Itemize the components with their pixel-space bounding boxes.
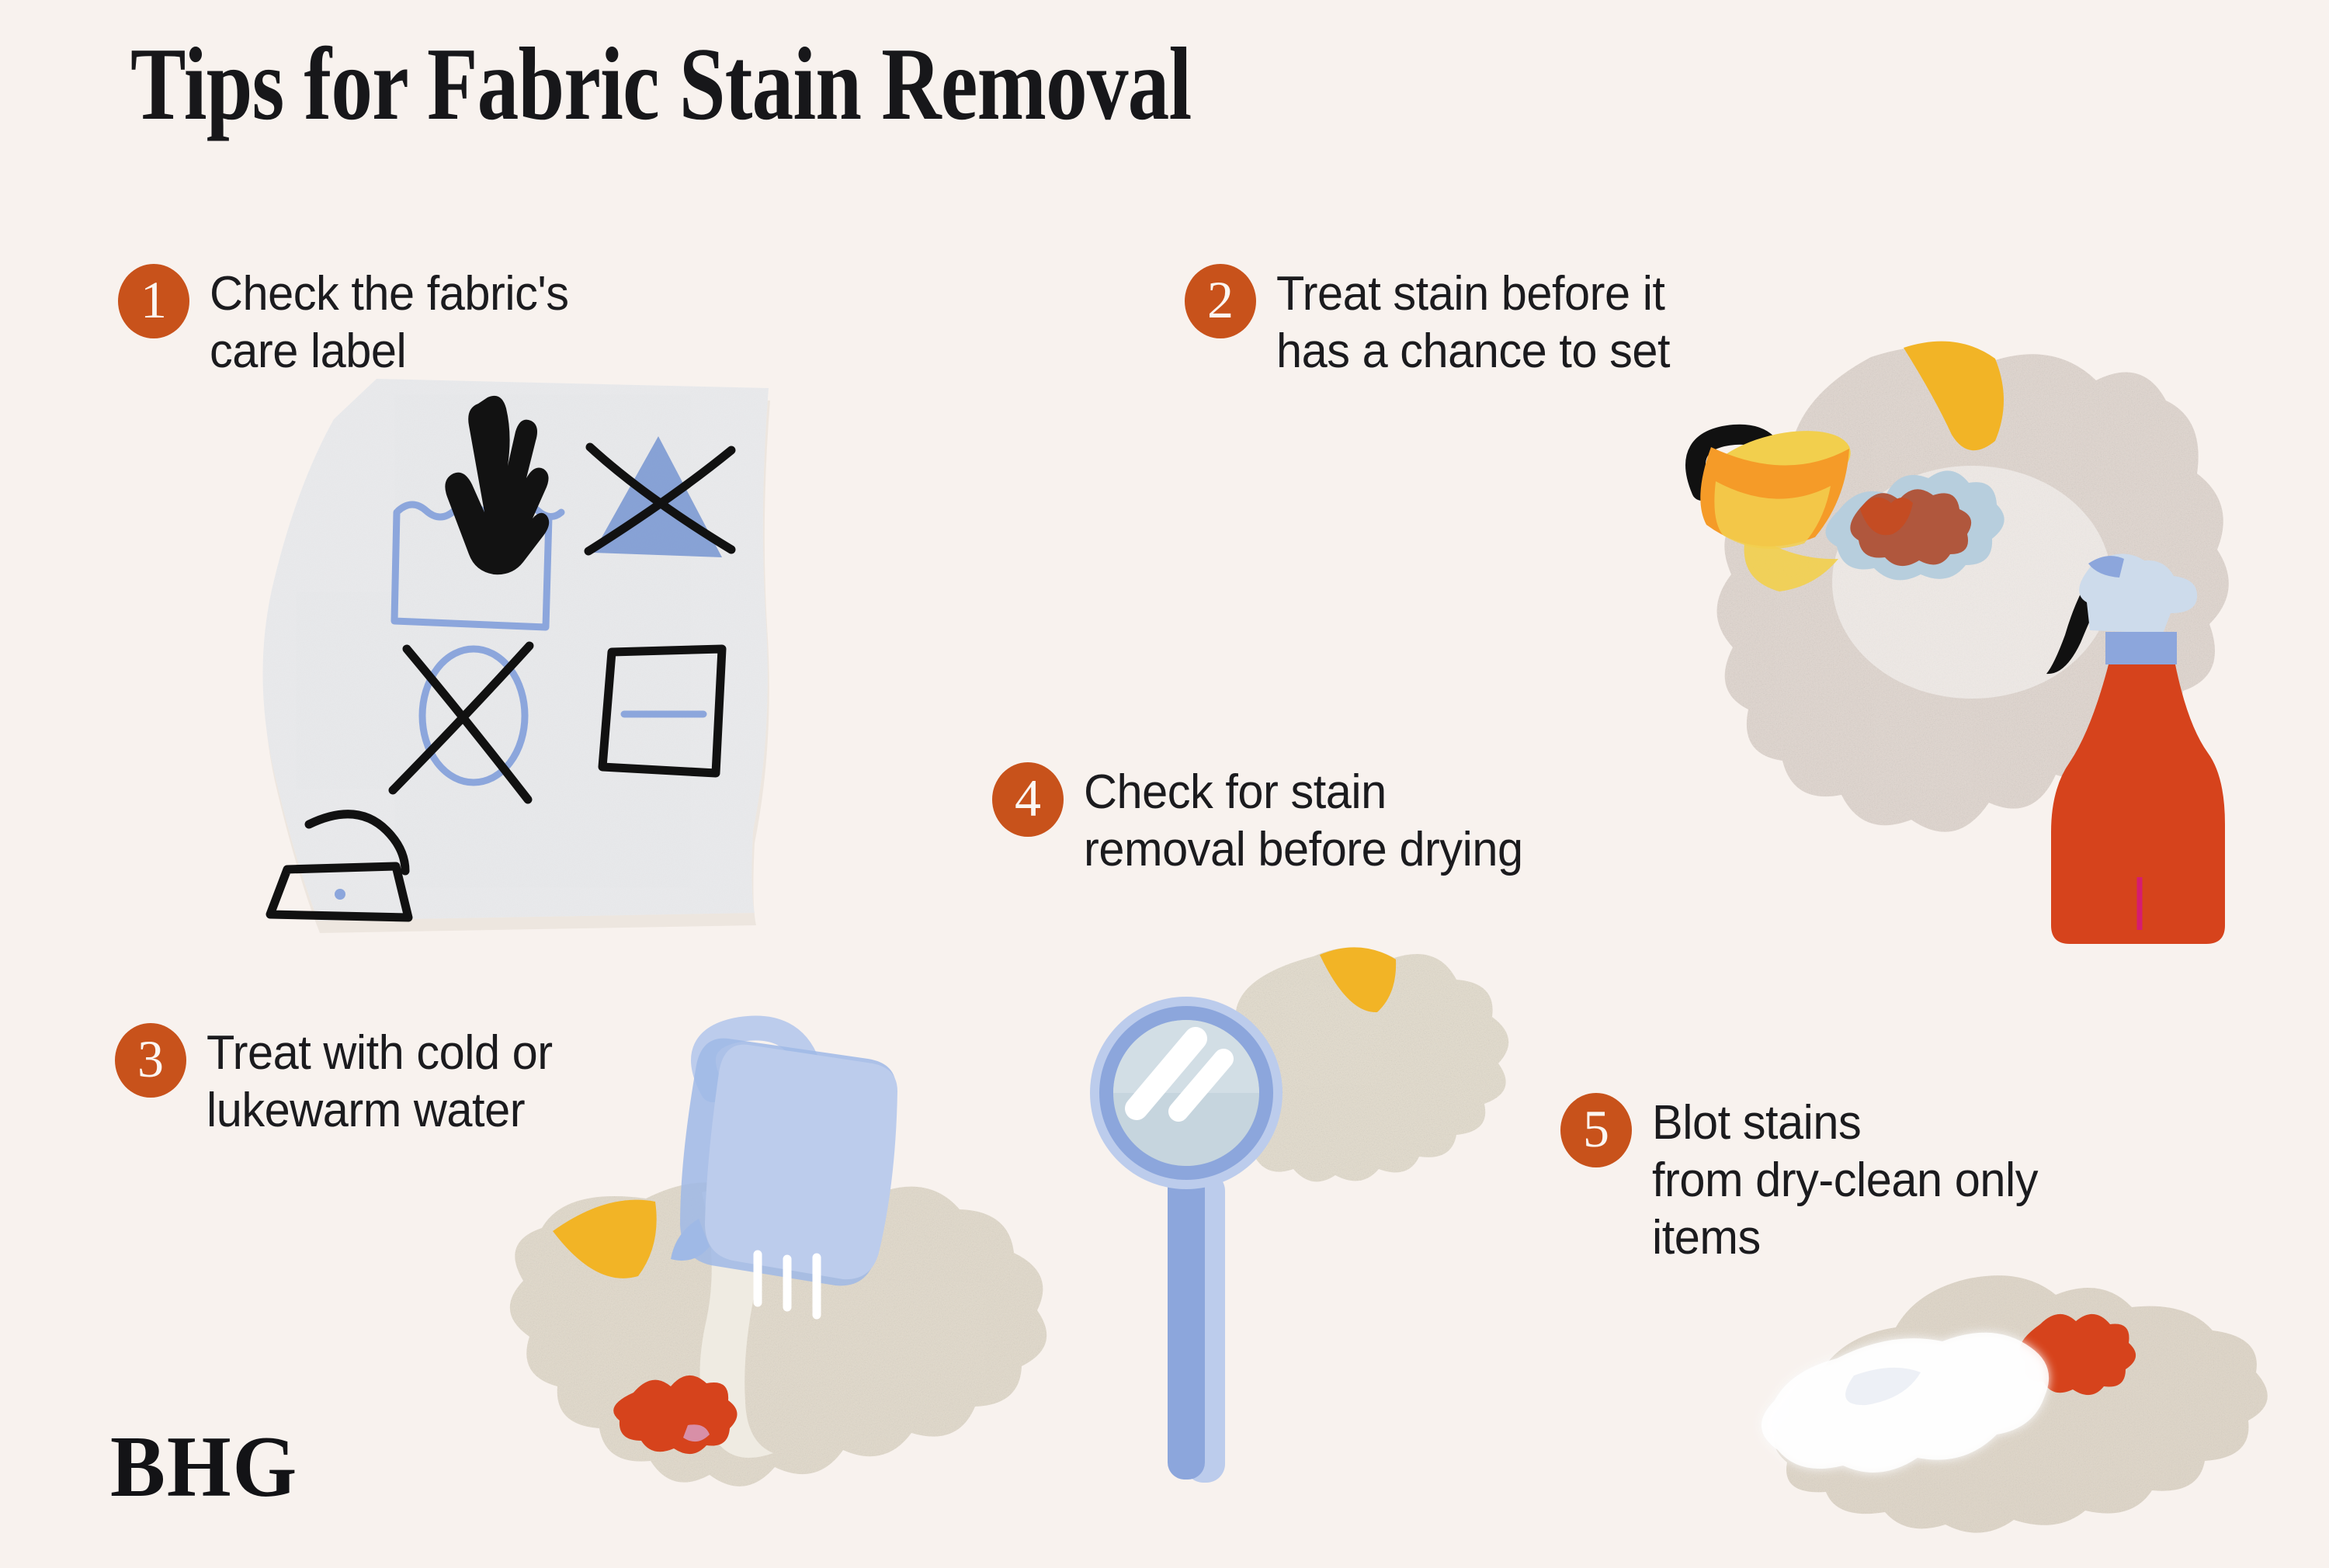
care-label-illustration [179, 365, 800, 939]
magnifying-glass-icon [1090, 997, 1283, 1483]
blot-stain-illustration [1692, 1273, 2282, 1568]
step-5-label: Blot stains from dry-clean only items [1652, 1093, 2038, 1266]
step-1-badge: 1 [118, 264, 189, 338]
step-3-badge: 3 [115, 1023, 186, 1098]
step-5[interactable]: 5 Blot stains from dry-clean only items [1560, 1093, 2054, 1266]
infographic-canvas: Tips for Fabric Stain Removal [0, 0, 2329, 1552]
check-removal-illustration [1087, 931, 1615, 1545]
step-2[interactable]: 2 Treat stain before it has a chance to … [1185, 264, 1686, 380]
step-1-label: Check the fabric's care label [210, 264, 569, 380]
step-3-label: Treat with cold or lukewarm water [207, 1023, 553, 1140]
page-title: Tips for Fabric Stain Removal [130, 29, 1191, 139]
step-4-label: Check for stain removal before drying [1084, 762, 1523, 879]
step-2-label: Treat stain before it has a chance to se… [1276, 264, 1670, 380]
step-2-badge: 2 [1185, 264, 1256, 338]
treat-stain-illustration [1630, 326, 2329, 947]
step-1[interactable]: 1 Check the fabric's care label [118, 264, 584, 380]
step-4-badge: 4 [992, 762, 1064, 837]
step-3[interactable]: 3 Treat with cold or lukewarm water [115, 1023, 567, 1140]
step-4[interactable]: 4 Check for stain removal before drying [992, 762, 1541, 879]
bhg-logo: BHG [110, 1417, 298, 1518]
step-5-badge: 5 [1560, 1093, 1632, 1167]
